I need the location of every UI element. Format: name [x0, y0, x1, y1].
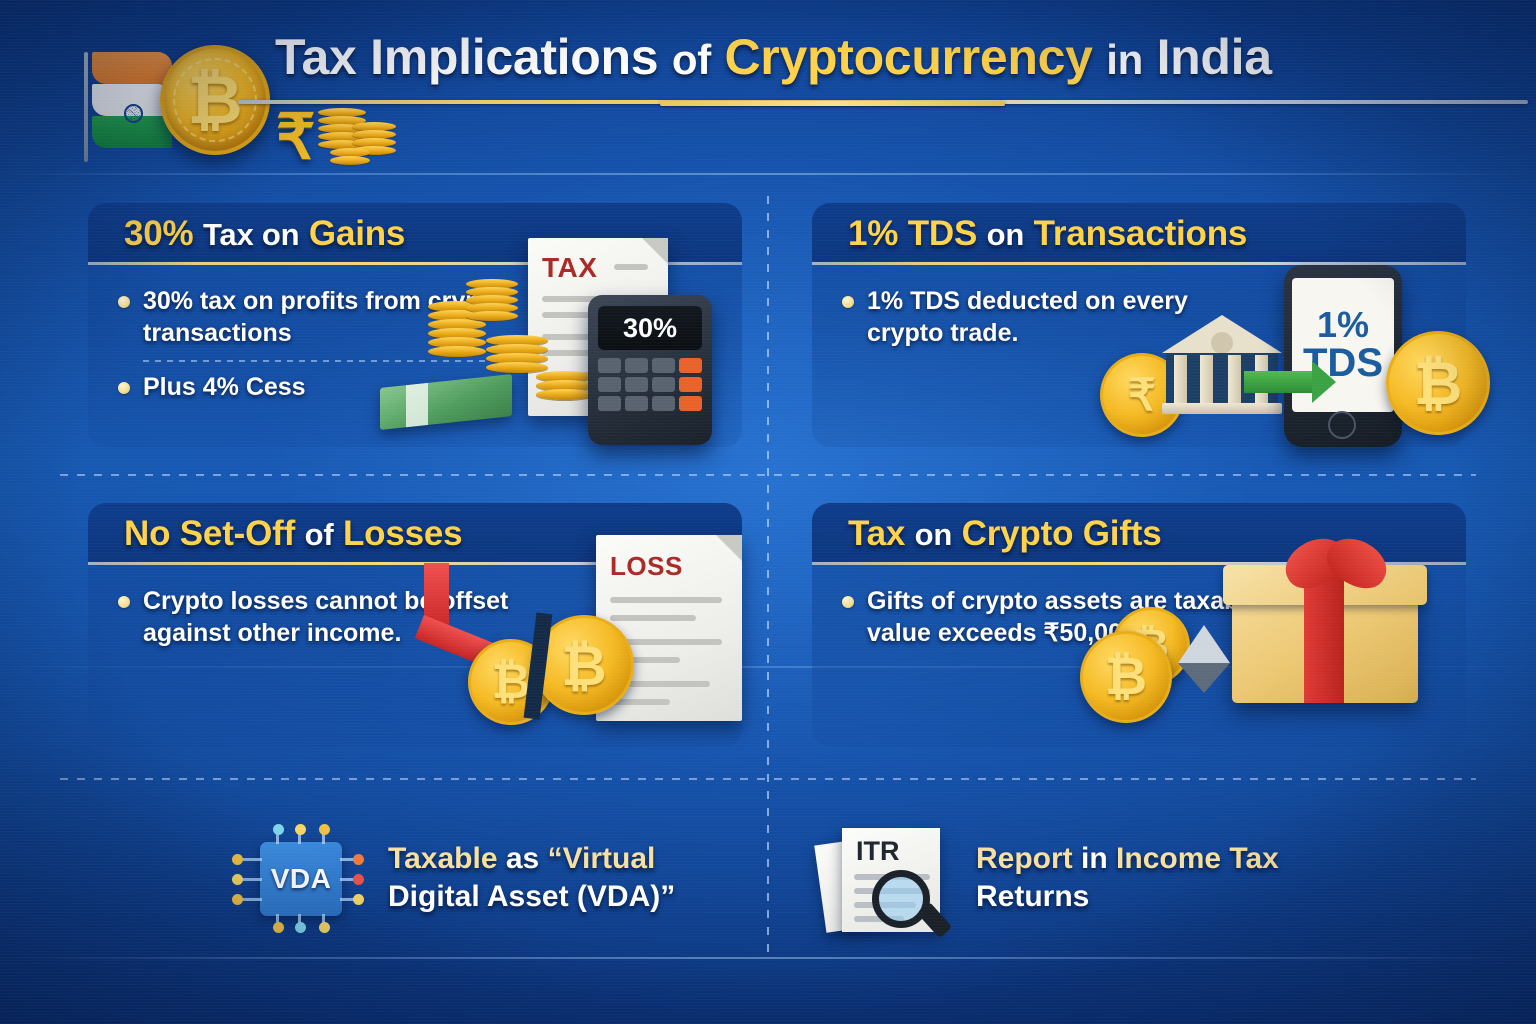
itr-document-icon: ITR: [820, 824, 952, 932]
card-header: 1% TDS on Transactions: [812, 203, 1466, 265]
vertical-divider: [767, 196, 769, 956]
card-title-gold-1: Tax: [848, 514, 905, 553]
title-in: in: [1106, 36, 1143, 83]
card-header: 30% Tax on Gains: [88, 203, 742, 265]
card-title-gold-2: Transactions: [1034, 214, 1248, 253]
list-item: 30% tax on profits from crypto transacti…: [118, 285, 518, 349]
footer-white: in: [1081, 842, 1108, 875]
bullet-text: 1% TDS deducted on every crypto trade.: [867, 285, 1242, 349]
footer-gold-1: Report: [976, 842, 1073, 875]
bullet-dot-icon: [118, 382, 130, 394]
rupee-symbol-icon: ₹: [276, 100, 315, 173]
footer-item-vda[interactable]: VDA Tax: [232, 824, 675, 932]
card-no-set-off-of-losses[interactable]: No Set-Off of Losses Crypto losses canno…: [88, 503, 742, 747]
card-tax-on-gains[interactable]: 30% Tax on Gains 30% tax on profits from…: [88, 203, 742, 447]
footer-line-2: Digital Asset (VDA)”: [388, 880, 675, 913]
bullet-text: Crypto losses cannot be offset against o…: [143, 585, 518, 649]
card-title-gold-2: Gains: [309, 214, 405, 253]
card-bullet-list: Crypto losses cannot be offset against o…: [88, 565, 518, 649]
title-underline-gold: [660, 101, 1005, 106]
ashoka-chakra-icon: [124, 104, 143, 123]
card-header: No Set-Off of Losses: [88, 503, 742, 565]
footer-gold-2: “Virtual: [548, 842, 656, 875]
title-of: of: [672, 36, 711, 83]
card-bullet-list: 1% TDS deducted on every crypto trade.: [812, 265, 1242, 349]
page-title: Tax Implications of Cryptocurrency in In…: [275, 28, 1515, 86]
horizontal-divider-2: [60, 778, 1476, 780]
flagpole: [84, 52, 88, 162]
title-gold: Cryptocurrency: [725, 29, 1093, 85]
list-item: 1% TDS deducted on every crypto trade.: [842, 285, 1242, 349]
card-header: Tax on Crypto Gifts: [812, 503, 1466, 565]
footer-gold-1: Taxable: [388, 842, 498, 875]
footer-line-2: Returns: [976, 880, 1089, 913]
list-item: Crypto losses cannot be offset against o…: [118, 585, 518, 649]
bullet-dot-icon: [842, 296, 854, 308]
card-bullet-list: 30% tax on profits from crypto transacti…: [88, 265, 518, 403]
footer-white: as: [506, 842, 539, 875]
title-part1: Tax Implications: [275, 29, 658, 85]
list-item: Gifts of crypto assets are taxable if va…: [842, 585, 1292, 649]
card-tax-on-crypto-gifts[interactable]: Tax on Crypto Gifts Gifts of crypto asse…: [812, 503, 1466, 747]
bullet-separator: [143, 360, 503, 362]
bullet-dot-icon: [118, 596, 130, 608]
coin-stack-icon: [330, 148, 370, 164]
card-bullet-list: Gifts of crypto assets are taxable if va…: [812, 565, 1292, 649]
card-title-white: on: [915, 517, 952, 552]
card-title-gold-1: No Set-Off: [124, 514, 295, 553]
footer-gold-2: Income Tax: [1116, 842, 1279, 875]
header: ₿ ₹ Tax Implications of Cryptocurrency i…: [0, 0, 1536, 185]
horizontal-divider-1: [60, 474, 1476, 476]
vda-chip-label: VDA: [260, 842, 342, 916]
list-item: Plus 4% Cess: [118, 371, 518, 403]
card-title-white: Tax on: [203, 217, 299, 252]
card-title-gold-1: 1% TDS: [848, 214, 977, 253]
vda-chip-icon: VDA: [232, 824, 364, 932]
infographic-canvas: ₿ ₹ Tax Implications of Cryptocurrency i…: [0, 0, 1536, 1024]
footer-text-itr: Report in Income Tax Returns: [976, 840, 1279, 916]
footer-text-vda: Taxable as “Virtual Digital Asset (VDA)”: [388, 840, 675, 916]
magnifier-icon: [872, 870, 930, 928]
card-title-white: on: [987, 217, 1024, 252]
footer-item-itr[interactable]: ITR Report in Income Tax Returns: [820, 824, 1279, 932]
card-title-gold-2: Crypto Gifts: [962, 514, 1162, 553]
card-title-gold-2: Losses: [343, 514, 462, 553]
bullet-dot-icon: [842, 596, 854, 608]
bullet-text: 30% tax on profits from crypto transacti…: [143, 285, 518, 349]
card-title-gold-1: 30%: [124, 214, 193, 253]
itr-label: ITR: [856, 836, 900, 867]
background-sheen-bottom: [0, 957, 1536, 959]
title-part2: India: [1157, 29, 1272, 85]
card-tds-on-transactions[interactable]: 1% TDS on Transactions 1% TDS deducted o…: [812, 203, 1466, 447]
bullet-text: Plus 4% Cess: [143, 371, 306, 403]
bullet-text: Gifts of crypto assets are taxable if va…: [867, 585, 1292, 649]
bullet-dot-icon: [118, 296, 130, 308]
card-title-white: of: [305, 517, 334, 552]
